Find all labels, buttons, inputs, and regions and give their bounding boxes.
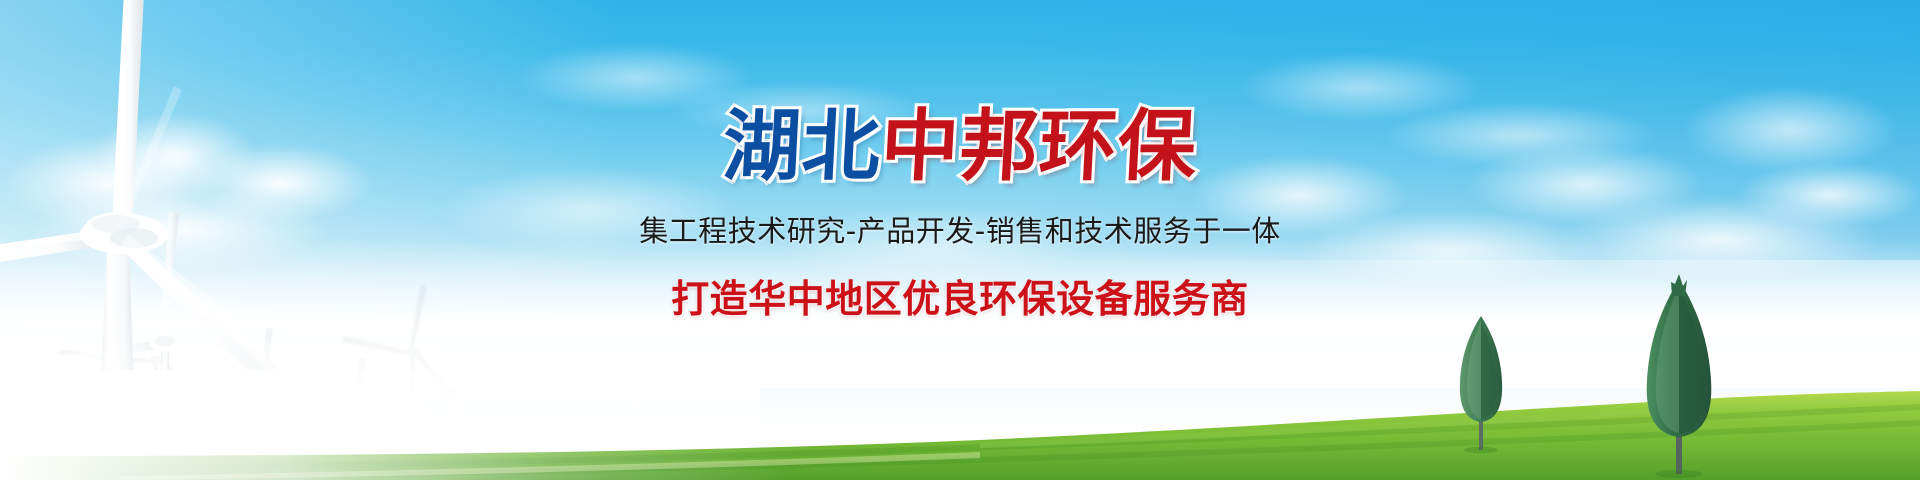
promo-banner: 湖北中邦环保 集工程技术研究-产品开发-销售和技术服务于一体 打造华中地区优良环… [0, 0, 1920, 480]
wind-turbine-farm [0, 0, 760, 480]
sky-right-tint [1020, 0, 1920, 260]
